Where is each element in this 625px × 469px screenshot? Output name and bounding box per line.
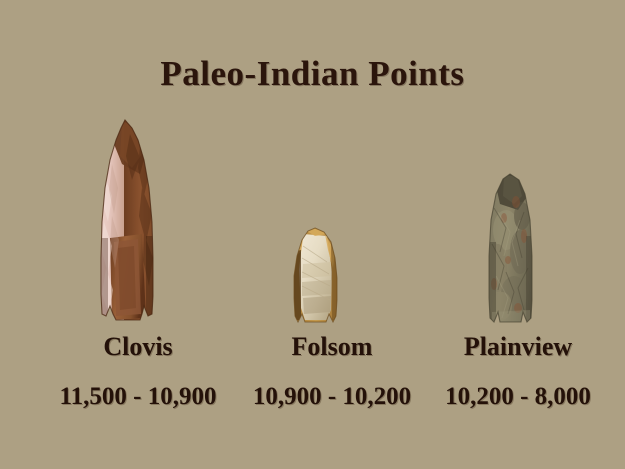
clovis-point-illustration xyxy=(84,118,170,328)
point-date-range-clovis: 11,500 - 10,900 xyxy=(34,383,242,411)
plainview-point-artifact xyxy=(472,172,550,330)
folsom-point-artifact xyxy=(279,226,353,328)
plainview-body xyxy=(472,172,550,330)
clovis-point-artifact xyxy=(84,118,170,328)
paleo-indian-points-slide: Paleo-Indian Points xyxy=(0,0,625,469)
plainview-point-illustration xyxy=(472,172,550,330)
folsom-body xyxy=(279,226,353,328)
point-date-range-folsom: 10,900 - 10,200 xyxy=(228,383,436,411)
folsom-point-illustration xyxy=(279,226,353,328)
page-title: Paleo-Indian Points xyxy=(0,54,625,94)
point-name-plainview: Plainview xyxy=(414,332,622,362)
point-name-clovis: Clovis xyxy=(34,332,242,362)
clovis-body xyxy=(84,118,170,328)
point-name-folsom: Folsom xyxy=(228,332,436,362)
point-date-range-plainview: 10,200 - 8,000 xyxy=(414,383,622,411)
